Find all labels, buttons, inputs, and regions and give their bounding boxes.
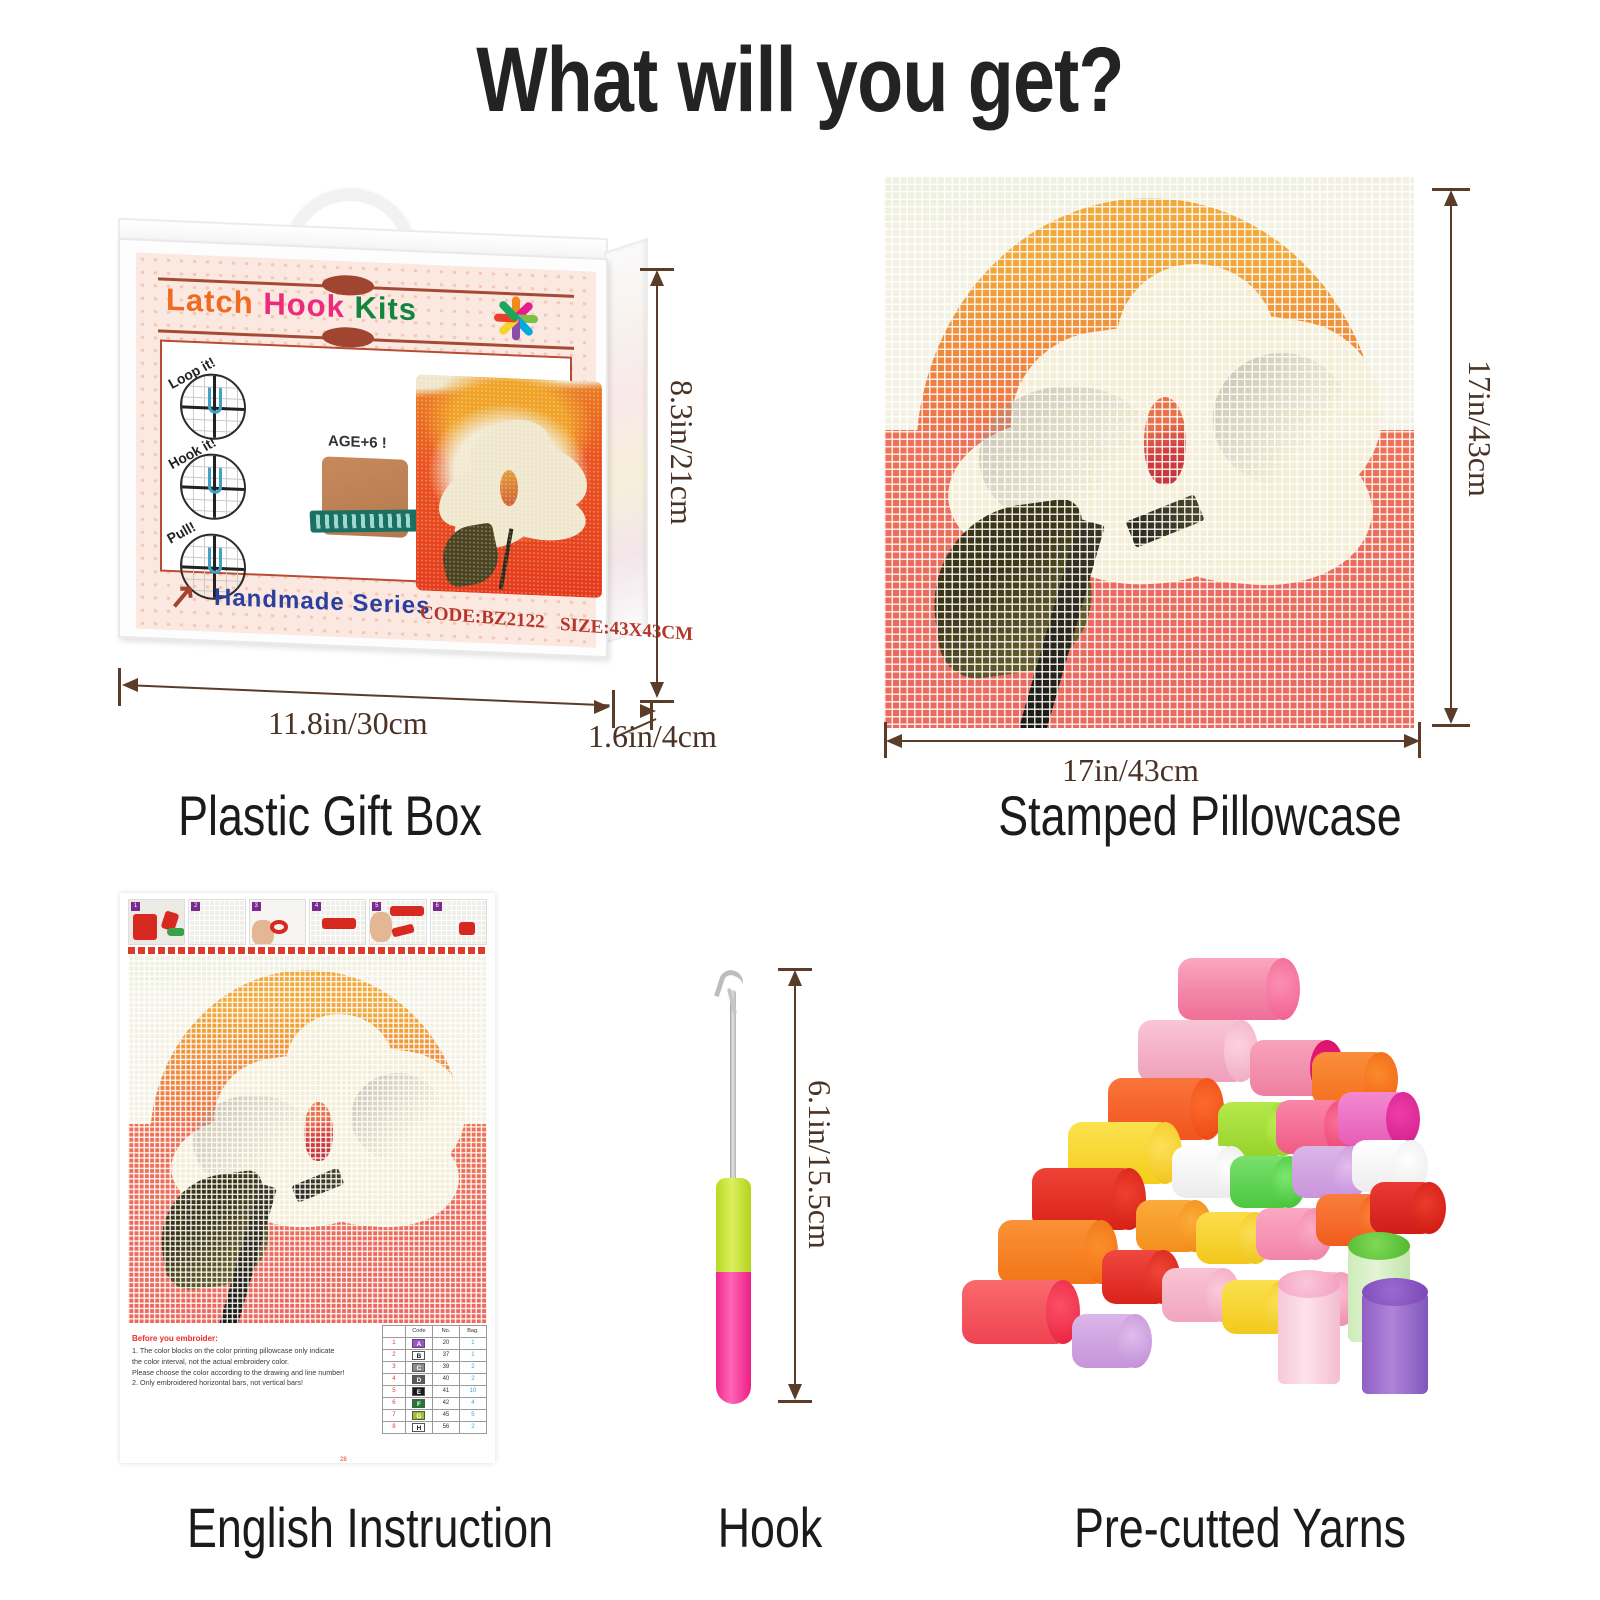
brand-word-latch: Latch xyxy=(166,282,254,322)
step-diagram-loop xyxy=(180,372,246,441)
cell-bag: 2 xyxy=(459,1374,486,1386)
yarn-bundle-purple xyxy=(1362,1292,1428,1394)
step-photo-strip: 1 2 3 4 5 xyxy=(128,899,487,945)
chart-artwork xyxy=(128,955,487,1323)
yarn-roll xyxy=(1102,1250,1170,1304)
cell-bag: 2 xyxy=(459,1362,486,1374)
step-photo: 4 xyxy=(309,899,366,945)
swatch-e: E xyxy=(412,1387,425,1396)
yarn-roll xyxy=(1230,1156,1296,1208)
caption-plastic-gift-box: Plastic Gift Box xyxy=(66,783,594,848)
yarn-roll xyxy=(1292,1146,1358,1198)
swatch-h: H xyxy=(412,1423,425,1432)
yarn-roll xyxy=(1196,1212,1262,1264)
swatch-c: C xyxy=(412,1363,425,1372)
pre-cutted-yarns-image xyxy=(940,950,1500,1450)
notice-title: Before you embroider: xyxy=(132,1333,382,1345)
step-photo: 1 xyxy=(128,899,185,945)
caption-pre-cutted-yarns: Pre-cutted Yarns xyxy=(952,1495,1528,1560)
pinwheel-icon xyxy=(488,289,544,347)
yarn-bundle-pink xyxy=(1278,1284,1340,1384)
yarn-roll xyxy=(1338,1092,1410,1146)
table-row: 8 H 56 2 xyxy=(383,1422,487,1434)
caption-hook: Hook xyxy=(650,1495,890,1560)
hook-length-value: 6.1in/15.5cm xyxy=(801,1080,838,1249)
step-number: 3 xyxy=(252,902,261,911)
cell-bag: 1 xyxy=(459,1350,486,1362)
yarn-roll xyxy=(1256,1208,1322,1260)
cell-no: 39 xyxy=(432,1362,459,1374)
cell-code: E xyxy=(405,1386,432,1398)
cell-bag: 2 xyxy=(459,1422,486,1434)
cell-code: B xyxy=(405,1350,432,1362)
age-recommendation-label: AGE+6 ! xyxy=(328,433,387,452)
chart-stamen xyxy=(304,1102,333,1161)
table-header-row: Code No. Bag. xyxy=(383,1326,487,1338)
hook-handle-upper xyxy=(716,1178,751,1274)
cell-bag: 10 xyxy=(459,1386,486,1398)
step-photo: 3 xyxy=(249,899,306,945)
col-index xyxy=(383,1326,406,1338)
before-you-embroider-notice: Before you embroider: 1. The color block… xyxy=(132,1333,382,1389)
english-instruction-sheet: 1 2 3 4 5 xyxy=(120,893,495,1463)
cell-index: 3 xyxy=(383,1362,406,1374)
table-total-count: 28 xyxy=(340,1457,347,1463)
swatch-g: G xyxy=(412,1411,425,1420)
product-code-label: CODE:BZ2122 xyxy=(420,602,545,634)
yarn-roll xyxy=(998,1220,1108,1284)
yarn-roll xyxy=(962,1280,1070,1344)
box-printed-panel: Latch Hook Kits Loop it! xyxy=(136,252,596,647)
pillowcase-artwork xyxy=(884,176,1414,728)
swatch-a: A xyxy=(412,1339,425,1348)
notice-line: the color interval, not the actual embro… xyxy=(132,1357,382,1368)
cell-bag: 4 xyxy=(459,1398,486,1410)
brand-word-kits: Kits xyxy=(354,290,417,329)
cell-bag: 1 xyxy=(459,1338,486,1350)
table-row: 3 C 39 2 xyxy=(383,1362,487,1374)
cell-code: D xyxy=(405,1374,432,1386)
cell-index: 1 xyxy=(383,1338,406,1350)
step-number: 1 xyxy=(131,902,140,911)
cell-code: F xyxy=(405,1398,432,1410)
step-photo: 5 xyxy=(369,899,426,945)
step-number: 2 xyxy=(191,902,200,911)
notice-line: 1. The color blocks on the color printin… xyxy=(132,1346,382,1357)
product-infographic: What will you get? Latch Hook Kits xyxy=(0,0,1600,1600)
cell-index: 2 xyxy=(383,1350,406,1362)
hook-shaft xyxy=(730,990,736,1190)
cell-code: C xyxy=(405,1362,432,1374)
decorative-red-strip xyxy=(128,947,487,954)
box-front-face: Latch Hook Kits Loop it! xyxy=(118,238,608,659)
cell-no: 42 xyxy=(432,1398,459,1410)
box-badge-bottom xyxy=(322,326,374,348)
cell-no: 56 xyxy=(432,1422,459,1434)
cell-index: 7 xyxy=(383,1410,406,1422)
zigzag-icon: ↗ xyxy=(166,576,199,618)
yarn-roll xyxy=(1072,1314,1142,1368)
cell-no: 40 xyxy=(432,1374,459,1386)
notice-line: Please choose the color according to the… xyxy=(132,1368,382,1379)
petal-shadow-right xyxy=(1213,353,1351,485)
table-row: 2 B 37 1 xyxy=(383,1350,487,1362)
product-size-label: SIZE:43X43CM xyxy=(560,614,693,646)
cell-no: 45 xyxy=(432,1410,459,1422)
table-row: 1 A 20 1 xyxy=(383,1338,487,1350)
box-artwork-area: Loop it! Hook it! Pull! AGE+6 ! xyxy=(160,339,572,588)
hook-handle-lower xyxy=(716,1272,751,1404)
cell-code: A xyxy=(405,1338,432,1350)
yarn-roll xyxy=(1162,1268,1230,1322)
step-number: 4 xyxy=(312,902,321,911)
table-row: 7 G 45 5 xyxy=(383,1410,487,1422)
col-code: Code xyxy=(405,1326,432,1338)
table-row: 6 F 42 4 xyxy=(383,1398,487,1410)
cell-no: 37 xyxy=(432,1350,459,1362)
yarn-roll xyxy=(1136,1200,1202,1252)
cell-no: 20 xyxy=(432,1338,459,1350)
caption-english-instruction: English Instruction xyxy=(74,1495,666,1560)
box-width-value: 11.8in/30cm xyxy=(268,705,428,742)
swatch-b: B xyxy=(412,1351,425,1360)
chart-petal-shadow-right xyxy=(351,1073,444,1161)
brand-word-hook: Hook xyxy=(263,286,345,325)
table-row: 5 E 41 10 xyxy=(383,1386,487,1398)
step-number: 5 xyxy=(372,902,381,911)
step-photo: 2 xyxy=(188,899,245,945)
page-title: What will you get? xyxy=(144,28,1456,133)
notice-line: 2. Only embroidered horizontal bars, not… xyxy=(132,1378,382,1389)
cell-index: 8 xyxy=(383,1422,406,1434)
table-row: 4 D 40 2 xyxy=(383,1374,487,1386)
step-photo: 6 xyxy=(430,899,487,945)
cell-code: H xyxy=(405,1422,432,1434)
stamped-pillowcase-canvas xyxy=(884,176,1414,728)
yarn-roll xyxy=(1178,958,1290,1020)
col-no: No. xyxy=(432,1326,459,1338)
step-diagram-hook xyxy=(180,452,246,521)
cell-index: 4 xyxy=(383,1374,406,1386)
cell-no: 41 xyxy=(432,1386,459,1398)
swatch-d: D xyxy=(412,1375,425,1384)
pillow-ribbon xyxy=(309,509,420,532)
box-side-face xyxy=(604,238,648,644)
step-number: 6 xyxy=(433,902,442,911)
yarn-color-code-table: Code No. Bag. 1 A 20 1 2 B 37 1 xyxy=(382,1325,487,1434)
latch-hook-tool xyxy=(700,960,770,1410)
pillowcase-height-value: 17in/43cm xyxy=(1461,360,1498,497)
series-label: Handmade Series xyxy=(214,584,430,621)
swatch-f: F xyxy=(412,1399,425,1408)
cell-code: G xyxy=(405,1410,432,1422)
finished-pillow-image xyxy=(416,374,602,598)
box-depth-value: 1.6in/4cm xyxy=(588,718,717,755)
yarn-roll xyxy=(1370,1182,1436,1234)
cell-bag: 5 xyxy=(459,1410,486,1422)
yarn-roll xyxy=(1172,1146,1238,1198)
yarn-roll xyxy=(1138,1020,1248,1082)
caption-stamped-pillowcase: Stamped Pillowcase xyxy=(880,783,1520,848)
instruction-color-chart xyxy=(128,955,487,1323)
col-bag: Bag. xyxy=(459,1326,486,1338)
cell-index: 5 xyxy=(383,1386,406,1398)
gift-box-illustration: Latch Hook Kits Loop it! xyxy=(110,190,640,670)
cell-index: 6 xyxy=(383,1398,406,1410)
flower-stamen xyxy=(1144,397,1186,485)
box-height-value: 8.3in/21cm xyxy=(663,380,700,525)
